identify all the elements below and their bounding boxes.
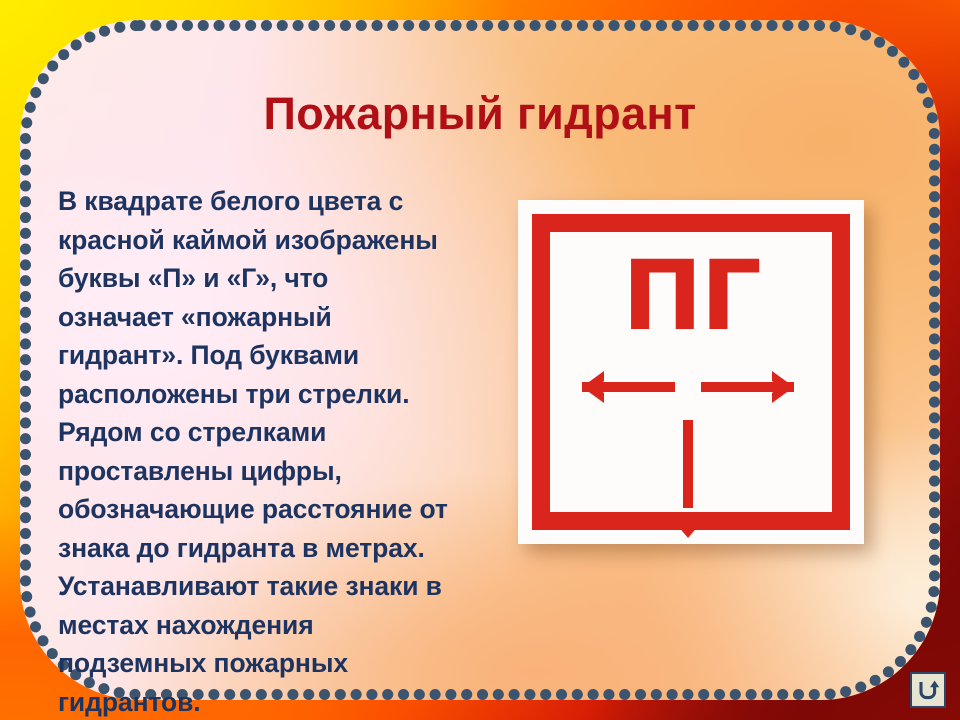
sign-letters-pg: ПГ [550, 248, 832, 344]
sign-red-frame: ПГ [532, 214, 850, 530]
slide-canvas: Пожарный гидрант В квадрате белого цвета… [0, 0, 960, 720]
body-paragraph: В квадрате белого цвета с красной каймой… [58, 182, 450, 720]
arrow-left-right-pair [550, 364, 826, 410]
sign-white-plate: ПГ [518, 200, 864, 544]
fire-hydrant-sign: ПГ [518, 200, 864, 544]
arrow-down-icon [550, 420, 826, 544]
return-button[interactable] [910, 672, 946, 708]
return-arrow-icon [916, 678, 940, 702]
page-title: Пожарный гидрант [60, 88, 900, 140]
sign-horizontal-arrows [550, 364, 832, 410]
sign-inner-area: ПГ [550, 232, 832, 512]
arrow-right-icon [701, 371, 794, 403]
arrow-left-icon [582, 371, 675, 403]
